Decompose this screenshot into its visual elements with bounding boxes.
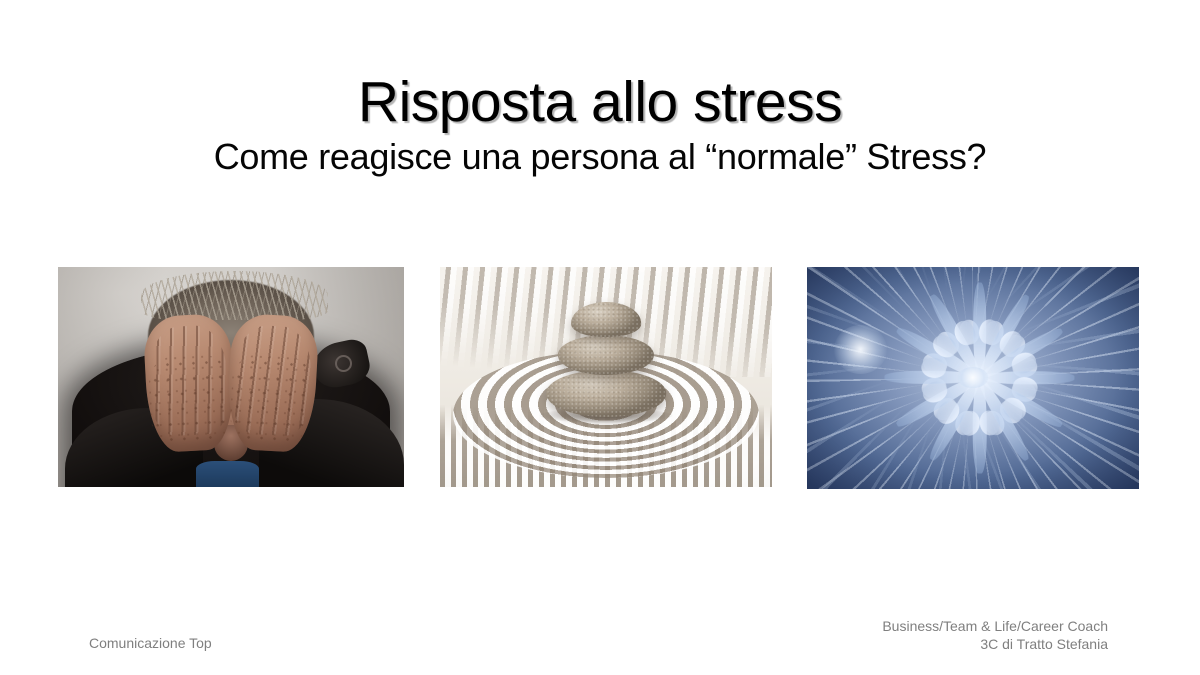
photo-vignette [807,267,1139,489]
page-title: Risposta allo stress [0,72,1200,134]
title-block: Risposta allo stress Come reagisce una p… [0,72,1200,176]
presentation-slide: Risposta allo stress Come reagisce una p… [0,0,1200,675]
footer-right-block: Business/Team & Life/Career Coach 3C di … [882,617,1108,654]
photo-skin-texture-right [230,354,314,445]
photo-hand-right [226,313,320,454]
photo-jacket-ring [335,355,352,372]
footer-left-text: Comunicazione Top [89,635,212,651]
footer-right-line-2: 3C di Tratto Stefania [882,635,1108,653]
footer-right-line-1: Business/Team & Life/Career Coach [882,617,1108,635]
photo-vignette [440,267,772,487]
stressed-man-photo [58,267,404,487]
ice-crystal-photo [807,267,1139,489]
photo-hair-wisps [141,271,328,319]
photo-blue-shirt [196,461,258,487]
photo-hand-left [143,313,237,454]
photo-skin-texture-left [148,354,232,445]
ice-crystal-photo-content [807,267,1139,489]
stressed-man-photo-content [58,267,404,487]
page-subtitle: Come reagisce una persona al “normale” S… [0,137,1200,177]
zen-stones-photo-content [440,267,772,487]
zen-stones-photo [440,267,772,487]
